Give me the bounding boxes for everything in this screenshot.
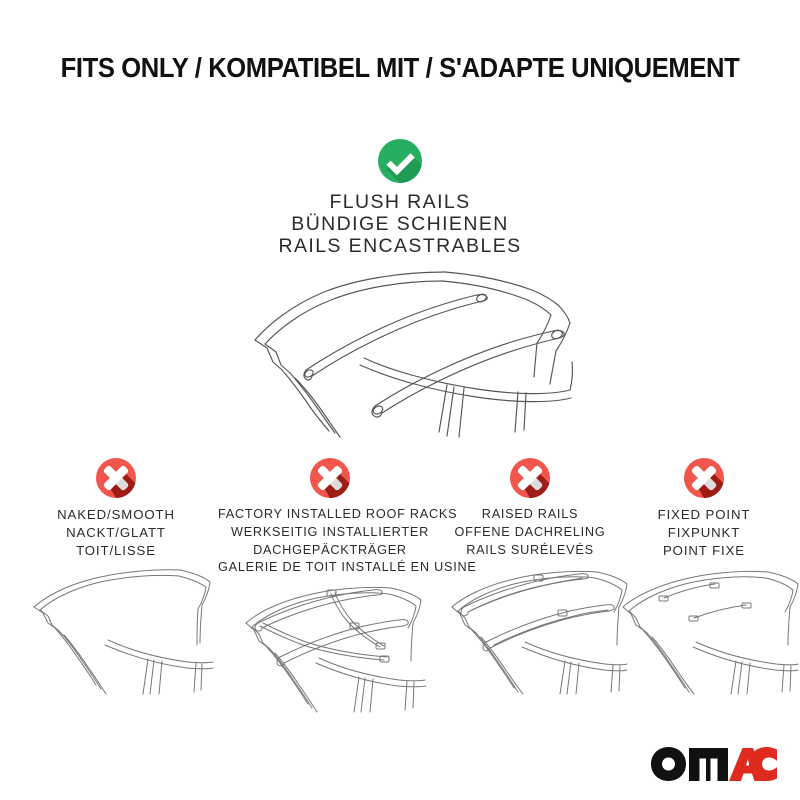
option-label-fr: GALERIE DE TOIT INSTALLÉ EN USINE bbox=[218, 559, 442, 577]
option-label-en: RAISED RAILS bbox=[432, 506, 628, 524]
option-label-fr: RAILS SURÉLEVÉS bbox=[432, 542, 628, 560]
x-circle-icon bbox=[510, 458, 550, 498]
incompatible-options-row: NAKED/SMOOTH NACKT/GLATT TOIT/LISSE bbox=[0, 450, 800, 700]
option-naked-smooth-labels: NAKED/SMOOTH NACKT/GLATT TOIT/LISSE bbox=[6, 506, 226, 559]
car-roof-raised-rails-illustration bbox=[432, 565, 628, 695]
option-factory-roof-racks-labels: FACTORY INSTALLED ROOF RACKS WERKSEITIG … bbox=[218, 506, 442, 577]
option-raised-rails-labels: RAISED RAILS OFFENE DACHRELING RAILS SUR… bbox=[432, 506, 628, 559]
option-fixed-point: FIXED POINT FIXPUNKT POINT FIXE bbox=[608, 450, 800, 695]
option-raised-rails: RAISED RAILS OFFENE DACHRELING RAILS SUR… bbox=[432, 450, 628, 695]
option-label-en: NAKED/SMOOTH bbox=[6, 506, 226, 524]
compatible-label-fr: RAILS ENCASTRABLES bbox=[0, 235, 800, 257]
option-label-en: FIXED POINT bbox=[608, 506, 800, 524]
option-naked-smooth: NAKED/SMOOTH NACKT/GLATT TOIT/LISSE bbox=[6, 450, 226, 695]
page-title: FITS ONLY / KOMPATIBEL MIT / S'ADAPTE UN… bbox=[28, 52, 772, 84]
option-factory-roof-racks: FACTORY INSTALLED ROOF RACKS WERKSEITIG … bbox=[218, 450, 442, 713]
option-label-de: OFFENE DACHRELING bbox=[432, 524, 628, 542]
option-label-de: NACKT/GLATT bbox=[6, 524, 226, 542]
option-fixed-point-labels: FIXED POINT FIXPUNKT POINT FIXE bbox=[608, 506, 800, 559]
fitment-compatibility-graphic: FITS ONLY / KOMPATIBEL MIT / S'ADAPTE UN… bbox=[0, 0, 800, 800]
compatible-label-en: FLUSH RAILS bbox=[0, 191, 800, 213]
x-circle-icon bbox=[96, 458, 136, 498]
car-roof-flush-rails-illustration bbox=[232, 266, 580, 438]
option-label-de: FIXPUNKT bbox=[608, 524, 800, 542]
option-label-en: FACTORY INSTALLED ROOF RACKS bbox=[218, 506, 442, 524]
option-label-fr: POINT FIXE bbox=[608, 542, 800, 560]
car-roof-factory-racks-illustration bbox=[218, 583, 442, 713]
x-circle-icon bbox=[684, 458, 724, 498]
check-circle-icon bbox=[378, 139, 422, 183]
omac-logo bbox=[650, 746, 778, 782]
compatible-labels: FLUSH RAILS BÜNDIGE SCHIENEN RAILS ENCAS… bbox=[0, 191, 800, 257]
car-roof-naked-smooth-illustration bbox=[6, 565, 226, 695]
option-label-de-2: DACHGEPÄCKTRÄGER bbox=[218, 542, 442, 560]
car-roof-fixed-point-illustration bbox=[608, 565, 800, 695]
compatible-label-de: BÜNDIGE SCHIENEN bbox=[0, 213, 800, 235]
option-label-de-1: WERKSEITIG INSTALLIERTER bbox=[218, 524, 442, 542]
option-label-fr: TOIT/LISSE bbox=[6, 542, 226, 560]
x-circle-icon bbox=[310, 458, 350, 498]
